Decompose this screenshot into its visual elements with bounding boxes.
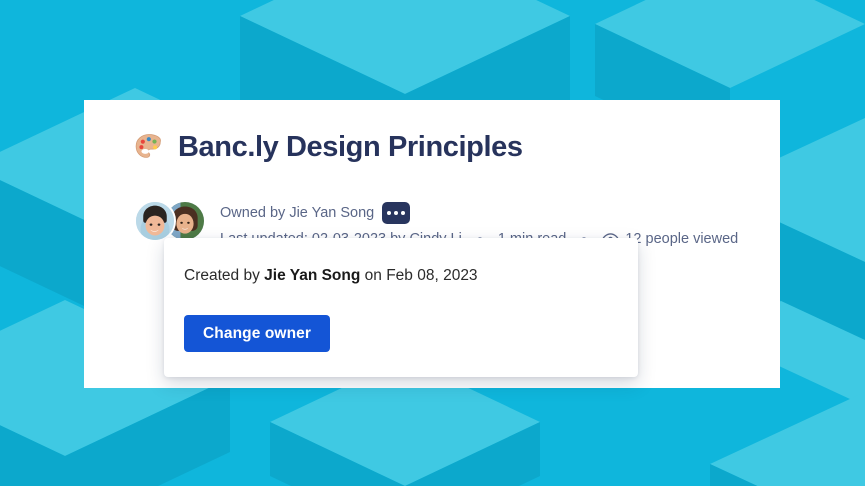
created-by-text: Created by Jie Yan Song on Feb 08, 2023 [184, 265, 478, 286]
owner-line: Owned by Jie Yan Song [220, 202, 738, 224]
palette-emoji-icon [134, 132, 164, 162]
avatar-jie-yan-song[interactable] [134, 200, 176, 242]
views-text: 12 people viewed [625, 229, 738, 249]
created-by-name: Jie Yan Song [264, 267, 360, 284]
document-title-row: Banc.ly Design Principles [134, 132, 523, 162]
screenshot-stage: Banc.ly Design Principles [0, 0, 865, 486]
created-prefix: Created by [184, 267, 260, 284]
owner-text: Owned by Jie Yan Song [220, 203, 374, 223]
owner-popover: Created by Jie Yan Song on Feb 08, 2023 … [164, 238, 638, 377]
created-suffix: on Feb 08, 2023 [365, 267, 478, 284]
page-title: Banc.ly Design Principles [178, 133, 523, 162]
ellipsis-icon[interactable] [382, 202, 410, 224]
change-owner-button[interactable]: Change owner [184, 315, 330, 352]
